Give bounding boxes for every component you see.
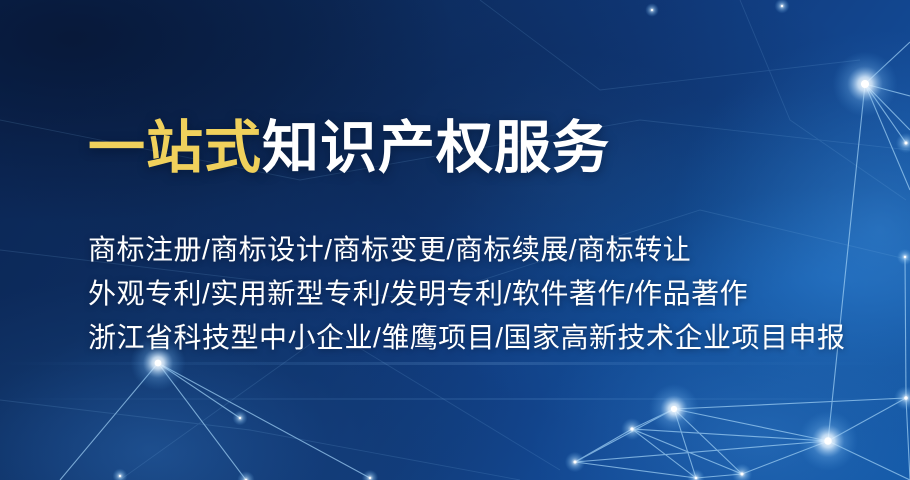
network-node <box>649 384 699 434</box>
network-node <box>233 411 248 426</box>
list-item: 商标注册/商标设计/商标变更/商标续展/商标转让 <box>88 228 848 272</box>
network-node <box>621 418 643 440</box>
list-item: 浙江省科技型中小企业/雏鹰项目/国家高新技术企业项目申报 <box>88 316 848 360</box>
headline-highlight: 一站式 <box>88 116 262 180</box>
network-node <box>645 3 659 17</box>
network-node <box>565 452 585 472</box>
network-node <box>833 52 898 117</box>
network-node <box>798 411 858 471</box>
list-item: 外观专利/实用新型专利/发明专利/软件著作/作品著作 <box>88 272 848 316</box>
network-node <box>775 0 790 13</box>
banner-content: 一站式知识产权服务 商标注册/商标设计/商标变更/商标续展/商标转让 外观专利/… <box>88 112 848 360</box>
page-title: 一站式知识产权服务 <box>88 112 848 184</box>
network-node <box>362 470 378 480</box>
headline-rest: 知识产权服务 <box>262 116 610 180</box>
service-list: 商标注册/商标设计/商标变更/商标续展/商标转让 外观专利/实用新型专利/发明专… <box>88 228 848 360</box>
hero-banner: 一站式知识产权服务 商标注册/商标设计/商标变更/商标续展/商标转让 外观专利/… <box>0 0 910 480</box>
